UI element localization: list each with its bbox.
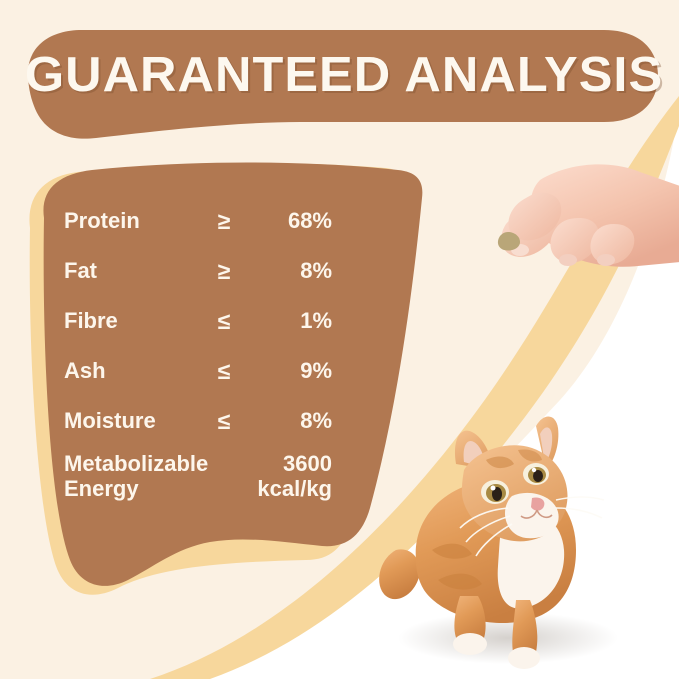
cat-paw bbox=[508, 647, 540, 669]
comparison-operator: ≤ bbox=[209, 408, 239, 435]
nutrient-label: Moisture bbox=[64, 408, 156, 434]
comparison-operator: ≥ bbox=[209, 208, 239, 235]
comparison-operator: ≥ bbox=[209, 258, 239, 285]
energy-value-line1: 3600 bbox=[257, 452, 332, 477]
cat-eye-highlight bbox=[532, 468, 536, 472]
nutrient-value: 1% bbox=[300, 308, 332, 334]
nutrient-value: 68% bbox=[288, 208, 332, 234]
nutrient-label: Fibre bbox=[64, 308, 118, 334]
energy-value: 3600 kcal/kg bbox=[257, 452, 332, 501]
nutrient-label: Ash bbox=[64, 358, 106, 384]
nutrient-value: 8% bbox=[300, 408, 332, 434]
energy-label: Metabolizable Energy bbox=[64, 452, 208, 501]
nutrient-value: 8% bbox=[300, 258, 332, 284]
orange-tabby-kitten-photo bbox=[368, 400, 668, 670]
energy-label-line1: Metabolizable bbox=[64, 452, 208, 477]
cat-eye-highlight bbox=[491, 486, 496, 491]
guaranteed-analysis-table: Protein ≥ 68% Fat ≥ 8% Fibre ≤ 1% Ash ≤ … bbox=[64, 196, 332, 510]
hand-holding-treat-photo bbox=[470, 150, 679, 310]
table-row: Ash ≤ 9% bbox=[64, 346, 332, 396]
nutrient-value: 9% bbox=[300, 358, 332, 384]
guaranteed-analysis-poster: GUARANTEED ANALYSIS Protein ≥ 68% Fat ≥ … bbox=[0, 0, 679, 679]
title-banner: GUARANTEED ANALYSIS bbox=[28, 28, 660, 128]
table-row-energy: Metabolizable Energy 3600 kcal/kg bbox=[64, 452, 332, 510]
table-row: Protein ≥ 68% bbox=[64, 196, 332, 246]
comparison-operator: ≤ bbox=[209, 358, 239, 385]
cat-paw bbox=[453, 633, 487, 655]
energy-value-line2: kcal/kg bbox=[257, 477, 332, 502]
nutrient-label: Protein bbox=[64, 208, 140, 234]
fingernail bbox=[597, 254, 615, 266]
page-title: GUARANTEED ANALYSIS bbox=[19, 28, 670, 128]
table-row: Moisture ≤ 8% bbox=[64, 396, 332, 446]
nutrient-label: Fat bbox=[64, 258, 97, 284]
comparison-operator: ≤ bbox=[209, 308, 239, 335]
table-row: Fat ≥ 8% bbox=[64, 246, 332, 296]
cat-tail bbox=[379, 549, 420, 599]
fingernail bbox=[559, 254, 577, 266]
table-row: Fibre ≤ 1% bbox=[64, 296, 332, 346]
energy-label-line2: Energy bbox=[64, 477, 208, 502]
